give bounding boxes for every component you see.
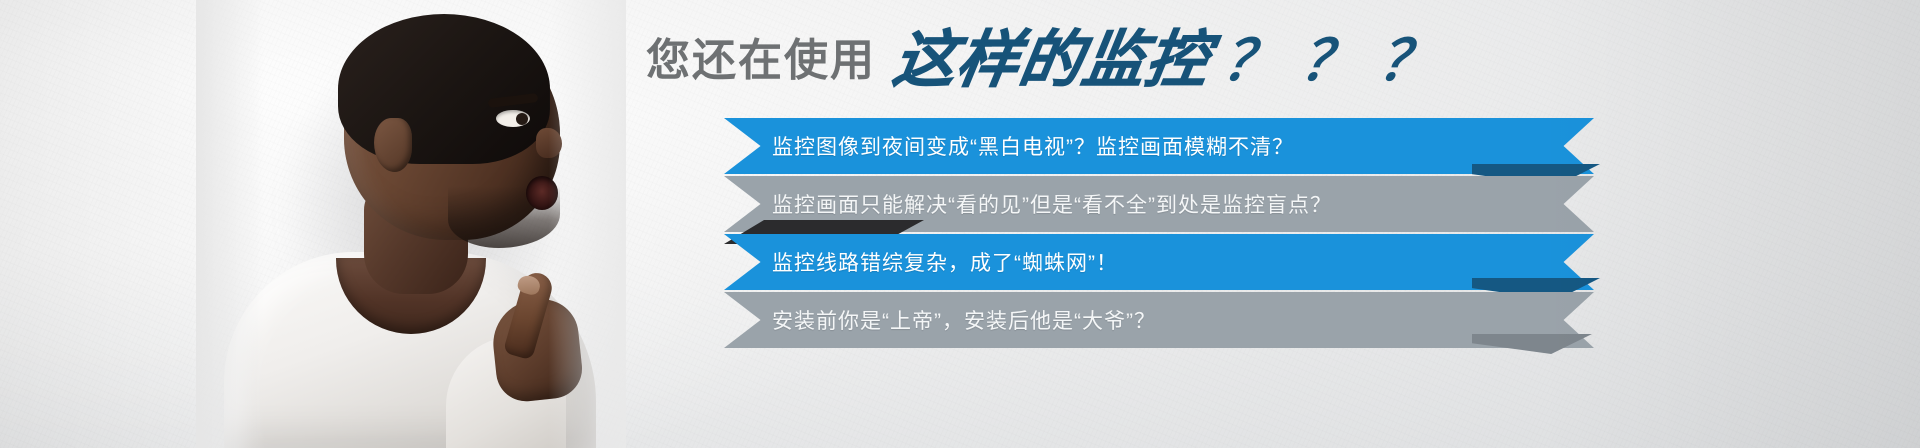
promo-banner: 您还在使用 这样的监控 ？ ？ ？ 监控图像到夜间变成“黑白电视”？监控画面模糊… [0, 0, 1920, 448]
headline-emphasis: 这样的监控 [889, 30, 1214, 92]
feature-ribbon-list: 监控图像到夜间变成“黑白电视”？监控画面模糊不清？ 监控画面只能解决“看的见”但… [0, 112, 1920, 372]
question-mark-2: ？ [1297, 33, 1362, 89]
ribbon-label-3: 监控线路错综复杂，成了“蜘蛛网”！ [772, 234, 1118, 290]
ribbon-label-4: 安装前你是“上帝”，安装后他是“大爷”？ [772, 292, 1156, 348]
headline-question-marks: ？ ？ ？ [1219, 33, 1440, 89]
ribbon-row-2: 监控画面只能解决“看的见”但是“看不全”到处是监控盲点？ [0, 176, 1920, 236]
headline: 您还在使用 这样的监控 ？ ？ ？ [646, 28, 1435, 94]
ribbon-label-1: 监控图像到夜间变成“黑白电视”？监控画面模糊不清？ [772, 118, 1294, 174]
question-mark-1: ？ [1219, 33, 1284, 89]
question-mark-3: ？ [1375, 33, 1440, 89]
ribbon-row-4: 安装前你是“上帝”，安装后他是“大爷”？ [0, 292, 1920, 352]
ribbon-row-1: 监控图像到夜间变成“黑白电视”？监控画面模糊不清？ [0, 118, 1920, 178]
ribbon-row-3: 监控线路错综复杂，成了“蜘蛛网”！ [0, 234, 1920, 294]
headline-lead: 您还在使用 [646, 39, 876, 83]
